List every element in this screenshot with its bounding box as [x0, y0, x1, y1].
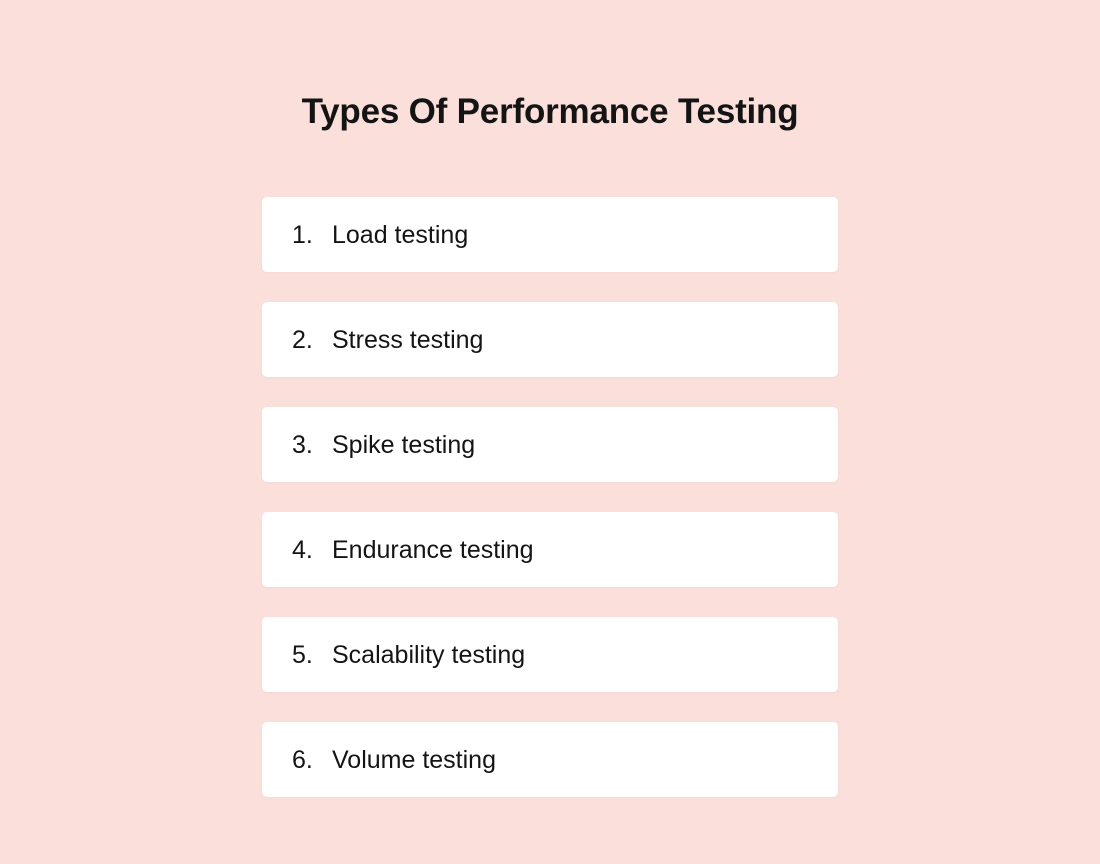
list-item-label: Scalability testing [332, 640, 525, 670]
list-item[interactable]: 3. Spike testing [262, 407, 838, 482]
list-item-label: Load testing [332, 220, 468, 250]
infographic-page: Types Of Performance Testing 1. Load tes… [0, 0, 1100, 864]
list-item-number: 3. [292, 430, 332, 460]
list-item-number: 2. [292, 325, 332, 355]
list-item-label: Endurance testing [332, 535, 534, 565]
list-item-label: Volume testing [332, 745, 496, 775]
performance-testing-list: 1. Load testing 2. Stress testing 3. Spi… [262, 197, 838, 797]
list-item-number: 5. [292, 640, 332, 670]
list-item[interactable]: 5. Scalability testing [262, 617, 838, 692]
list-item-number: 6. [292, 745, 332, 775]
list-item-number: 1. [292, 220, 332, 250]
list-item[interactable]: 1. Load testing [262, 197, 838, 272]
list-item[interactable]: 2. Stress testing [262, 302, 838, 377]
list-item-label: Stress testing [332, 325, 483, 355]
list-item-label: Spike testing [332, 430, 475, 460]
list-item[interactable]: 4. Endurance testing [262, 512, 838, 587]
list-item-number: 4. [292, 535, 332, 565]
page-title: Types Of Performance Testing [0, 88, 1100, 136]
list-item[interactable]: 6. Volume testing [262, 722, 838, 797]
